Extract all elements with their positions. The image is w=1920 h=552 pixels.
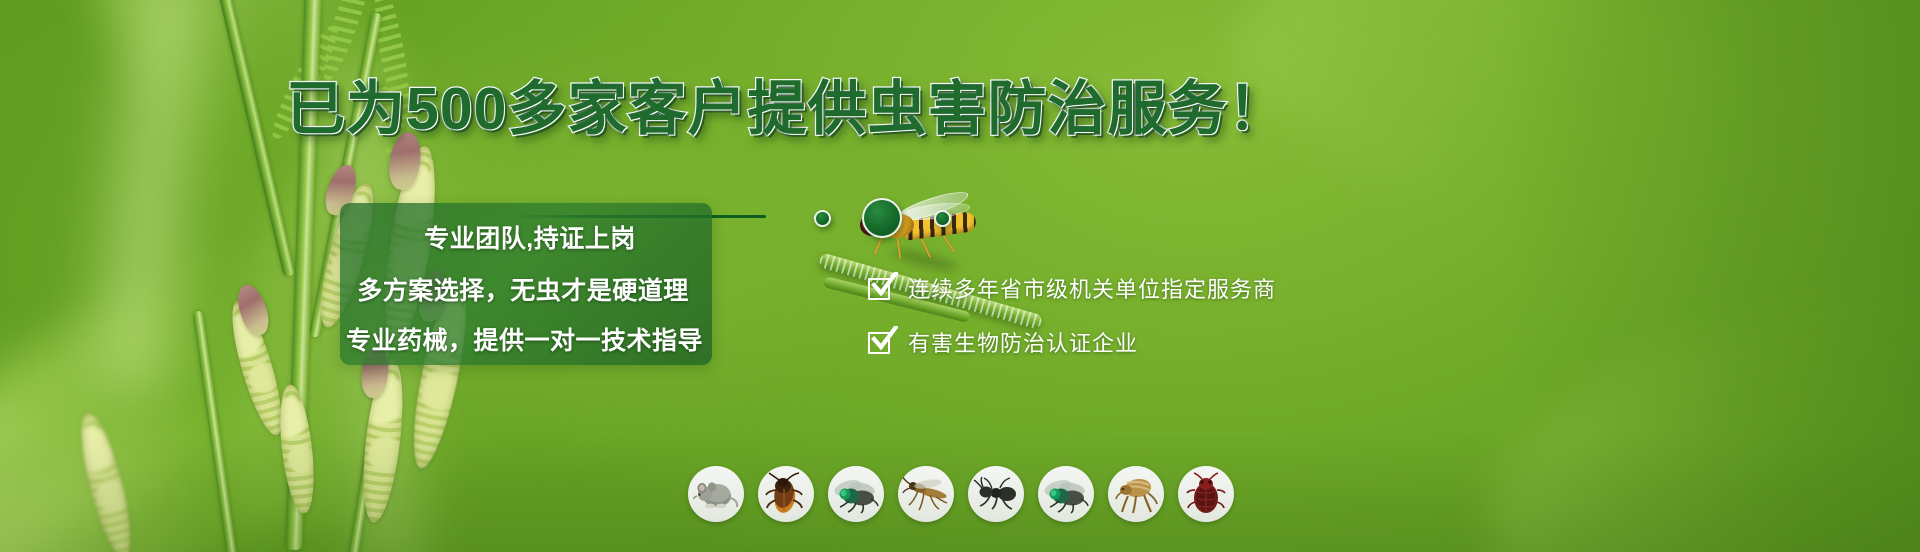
feature-line-1: 专业团队,持证上岗	[358, 219, 694, 255]
pest-control-hero-banner: 已为500多家客户提供虫害防治服务！ 专业团队,持证上岗 多方案选择，无虫才是硬…	[0, 0, 1920, 552]
pest-icon-cockroach[interactable]	[758, 466, 814, 522]
bedbug-icon	[1185, 472, 1227, 516]
pest-icon-blowfly[interactable]	[1038, 466, 1094, 522]
page-title: 已为500多家客户提供虫害防治服务！	[286, 80, 1287, 139]
plant-stem	[193, 311, 238, 552]
feature-line-2: 多方案选择，无虫才是硬道理	[352, 271, 694, 307]
blowfly-icon	[1042, 474, 1090, 514]
ant-icon	[972, 475, 1020, 513]
fly-icon	[832, 474, 880, 514]
checkbox-checked-icon	[868, 275, 894, 301]
background-foliage-blur	[1211, 0, 1810, 360]
list-item: 连续多年省市级机关单位指定服务商	[868, 272, 1276, 304]
cockroach-icon	[764, 472, 808, 516]
pest-icon-ant[interactable]	[968, 466, 1024, 522]
pest-icon-flea[interactable]	[1108, 466, 1164, 522]
right-vignette	[1500, 0, 1920, 552]
large-dot-icon	[862, 198, 902, 238]
headline-text: 已为500多家客户提供虫害防治服务！	[286, 76, 1287, 142]
mosquito-icon	[902, 473, 950, 515]
plant-stem	[216, 0, 295, 278]
flower-spike	[72, 408, 139, 552]
flower-spike	[275, 383, 318, 515]
feature-line-3: 专业药械，提供一对一技术指导	[346, 321, 694, 357]
background-foliage-blur	[1453, 256, 1920, 552]
mouse-icon	[693, 474, 739, 514]
small-dot-icon	[934, 210, 951, 227]
pest-icon-fly[interactable]	[828, 466, 884, 522]
pest-icon-mosquito[interactable]	[898, 466, 954, 522]
pest-icon-mouse[interactable]	[688, 466, 744, 522]
pest-icon-bedbug[interactable]	[1178, 466, 1234, 522]
list-item: 有害生物防治认证企业	[868, 326, 1276, 358]
checkbox-checked-icon	[868, 329, 894, 355]
small-dot-icon	[814, 210, 831, 227]
flea-icon	[1114, 473, 1158, 515]
checklist-label: 连续多年省市级机关单位指定服务商	[908, 272, 1276, 304]
feature-highlight-panel: 专业团队,持证上岗 多方案选择，无虫才是硬道理 专业药械，提供一对一技术指导	[340, 203, 712, 365]
checklist-label: 有害生物防治认证企业	[908, 326, 1138, 358]
credentials-checklist: 连续多年省市级机关单位指定服务商 有害生物防治认证企业	[868, 272, 1276, 380]
pest-type-icon-row	[688, 466, 1234, 522]
